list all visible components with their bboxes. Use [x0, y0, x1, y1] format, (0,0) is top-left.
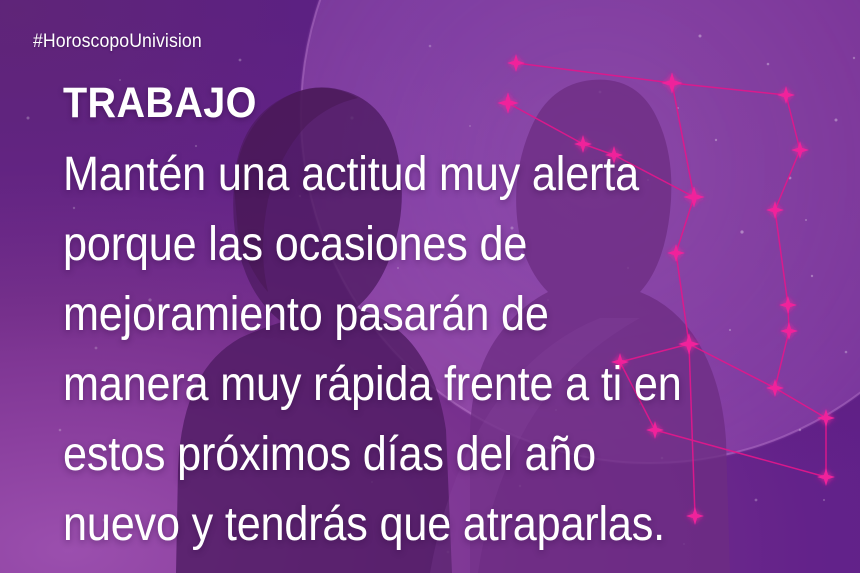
horoscope-body-line-3: mejoramiento pasarán de [63, 280, 756, 350]
horoscope-body-line-1: Mantén una actitud muy alerta [63, 140, 756, 210]
horoscope-card: #HoroscopoUnivision TRABAJO Mantén una a… [0, 0, 860, 573]
horoscope-body-line-4: manera muy rápida frente a ti en [63, 350, 756, 420]
page-title: TRABAJO [63, 80, 257, 126]
hashtag-label: #HoroscopoUnivision [33, 31, 202, 53]
horoscope-body-line-5: estos próximos días del año [63, 420, 756, 490]
horoscope-body-text: Mantén una actitud muy alertaporque las … [63, 140, 756, 560]
horoscope-body-line-2: porque las ocasiones de [63, 210, 756, 280]
text-block: #HoroscopoUnivision TRABAJO Mantén una a… [33, 0, 833, 573]
horoscope-body-line-6: nuevo y tendrás que atraparlas. [63, 490, 756, 560]
